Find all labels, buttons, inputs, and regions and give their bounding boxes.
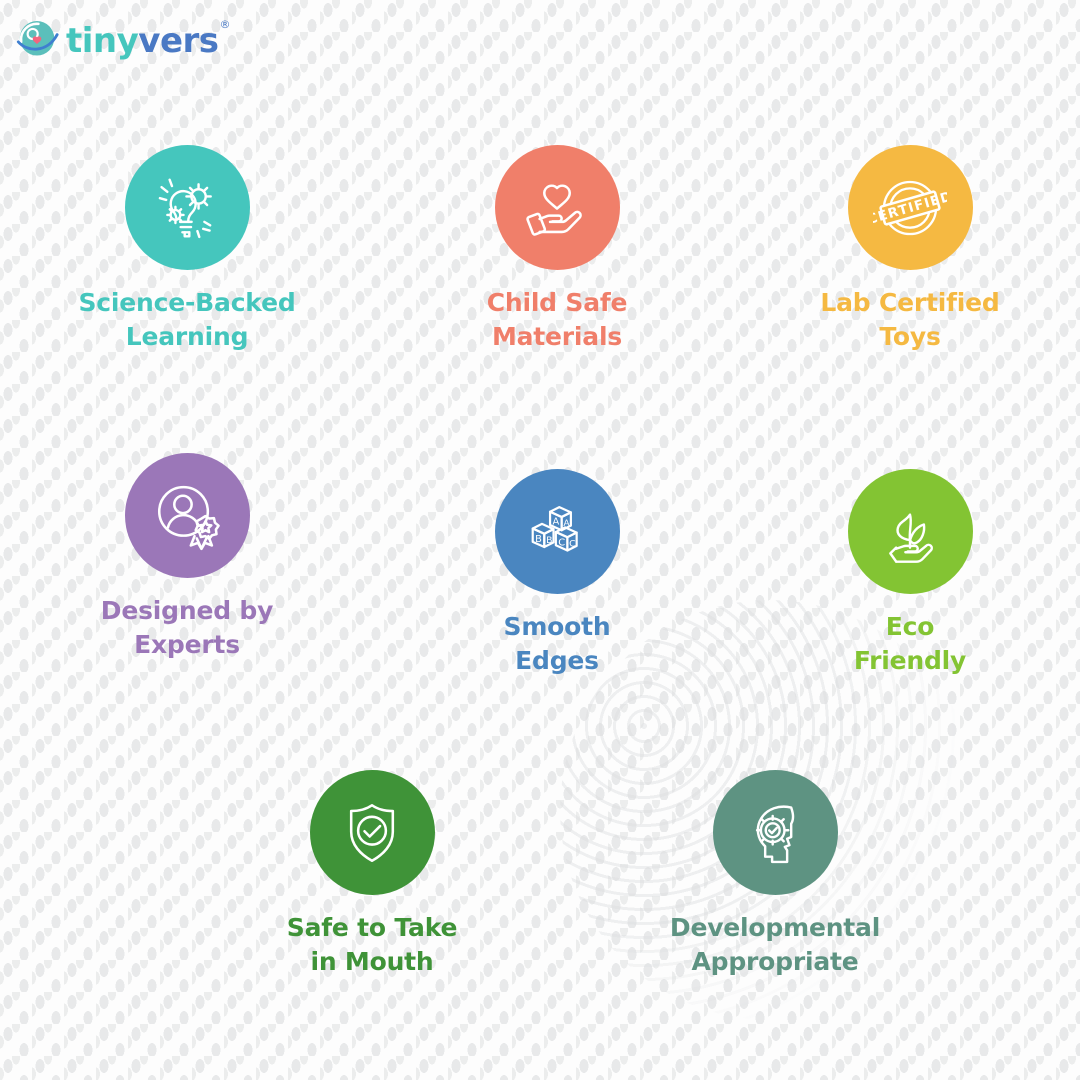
feature-label: Child Safe Materials [487, 286, 628, 354]
feature-label: Lab Certified Toys [820, 286, 999, 354]
svg-text:A: A [552, 516, 559, 527]
feature-label: Developmental Appropriate [670, 911, 880, 979]
feature-icon-circle [310, 770, 435, 895]
feature-designed-by-experts[interactable]: Designed by Experts [57, 453, 317, 662]
svg-text:C: C [558, 537, 565, 548]
certified-stamp-icon: CERTIFIED [873, 171, 947, 245]
feature-label: Safe to Take in Mouth [287, 911, 457, 979]
brand-logo[interactable]: tinyvers® [14, 16, 229, 62]
feature-child-safe-materials[interactable]: Child Safe Materials [427, 145, 687, 354]
feature-grid: Science-Backed Learning Child Safe Mater… [0, 0, 1080, 1080]
svg-text:B: B [546, 534, 552, 545]
feature-label: Eco Friendly [854, 610, 966, 678]
svg-text:CERTIFIED: CERTIFIED [873, 189, 947, 228]
trademark-symbol: ® [220, 18, 231, 31]
brand-name-part1: tiny [66, 21, 138, 61]
feature-science-backed-learning[interactable]: Science-Backed Learning [57, 145, 317, 354]
feature-icon-circle [125, 145, 250, 270]
brand-wordmark: tinyvers® [66, 24, 229, 58]
abc-blocks-icon: A A B B [520, 495, 594, 569]
feature-icon-circle [713, 770, 838, 895]
feature-lab-certified-toys[interactable]: CERTIFIED Lab Certified Toys [780, 145, 1040, 354]
feature-label: Science-Backed Learning [78, 286, 295, 354]
feature-eco-friendly[interactable]: Eco Friendly [780, 469, 1040, 678]
tinyvers-globe-heart-logo-icon [14, 16, 60, 62]
feature-label: Smooth Edges [504, 610, 611, 678]
feature-smooth-edges[interactable]: A A B B [427, 469, 687, 678]
hand-plant-icon [873, 495, 947, 569]
brand-name-part2: vers [138, 21, 218, 61]
feature-icon-circle [848, 469, 973, 594]
feature-icon-circle: A A B B [495, 469, 620, 594]
svg-text:B: B [535, 533, 542, 544]
feature-icon-circle: CERTIFIED [848, 145, 973, 270]
feature-label: Designed by Experts [101, 594, 273, 662]
feature-safe-to-take-in-mouth[interactable]: Safe to Take in Mouth [242, 770, 502, 979]
lightbulb-gears-icon [150, 171, 224, 245]
feature-icon-circle [125, 453, 250, 578]
svg-text:C: C [569, 538, 575, 549]
feature-icon-circle [495, 145, 620, 270]
expert-badge-icon [150, 479, 224, 553]
shield-check-icon [335, 796, 409, 870]
feature-developmental-appropriate[interactable]: Developmental Appropriate [645, 770, 905, 979]
head-gear-check-icon [738, 796, 812, 870]
hand-heart-icon [520, 171, 594, 245]
